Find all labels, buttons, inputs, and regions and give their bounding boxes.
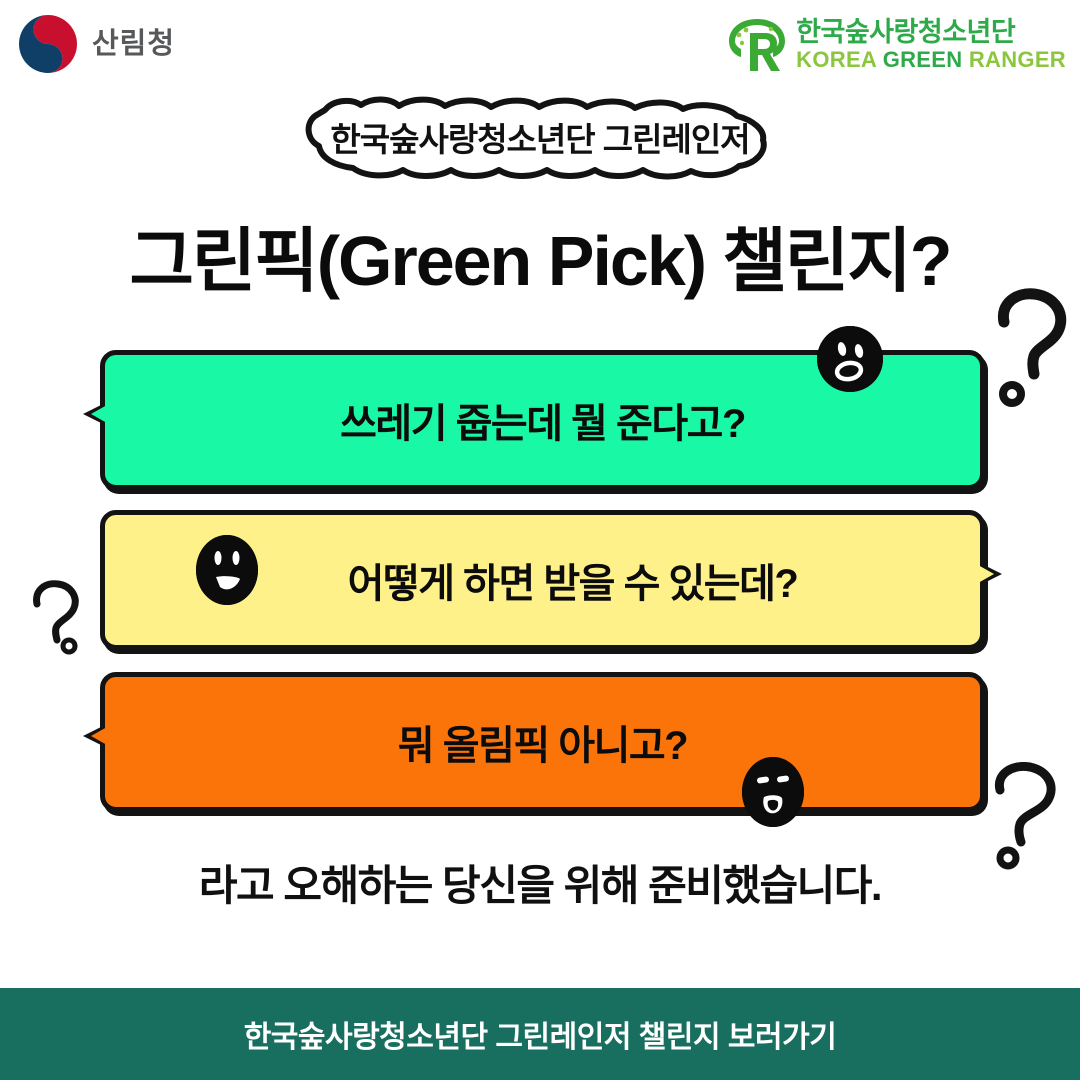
program-name-label: 한국숲사랑청소년단 그린레인저 (285, 96, 795, 180)
green-ranger-korean-name: 한국숲사랑청소년단 (796, 17, 1015, 47)
poster-canvas: 산림청 한국숲사랑청소년단 KOREA GREEN RANGER 한국숲사랑청소… (0, 0, 1080, 1080)
green-ranger-tree-icon (726, 16, 788, 74)
speech-bubble-green-text: 쓰레기 줍는데 뭘 준다고? (105, 391, 980, 449)
smiling-face-icon (196, 535, 258, 605)
green-ranger-english-green: GREEN (883, 47, 969, 72)
korea-taegeuk-emblem-icon (16, 12, 80, 76)
bubble-tail-fill (91, 727, 107, 745)
green-ranger-wordmark: 한국숲사랑청소년단 KOREA GREEN RANGER (796, 19, 1066, 71)
green-ranger-english-korea: KOREA (796, 47, 883, 72)
program-name-cloud-bubble: 한국숲사랑청소년단 그린레인저 (285, 96, 795, 180)
question-mark-icon (986, 288, 1068, 410)
speech-bubble-orange-text: 뭐 올림픽 아니고? (105, 713, 980, 771)
korea-forest-service-logo: 산림청 (16, 12, 175, 76)
speech-bubble-orange: 뭐 올림픽 아니고? (100, 672, 985, 812)
bubble-tail-fill (978, 565, 994, 583)
page-title: 그린픽(Green Pick) 챌린지? (0, 205, 1080, 306)
challenge-link-bar[interactable]: 한국숲사랑청소년단 그린레인저 챌린지 보러가기 (0, 988, 1080, 1080)
surprised-face-icon (817, 326, 883, 392)
korea-forest-service-label: 산림청 (92, 30, 175, 59)
korea-green-ranger-logo: 한국숲사랑청소년단 KOREA GREEN RANGER (726, 16, 1066, 74)
green-ranger-english-name: KOREA GREEN RANGER (796, 49, 1066, 71)
question-mark-icon (28, 578, 84, 660)
shocked-face-icon (742, 757, 804, 827)
challenge-link-label: 한국숲사랑청소년단 그린레인저 챌린지 보러가기 (244, 1012, 837, 1056)
caption-text: 라고 오해하는 당신을 위해 준비했습니다. (0, 852, 1080, 913)
bubble-tail-fill (91, 405, 107, 423)
green-ranger-english-ranger: RANGER (969, 47, 1066, 72)
